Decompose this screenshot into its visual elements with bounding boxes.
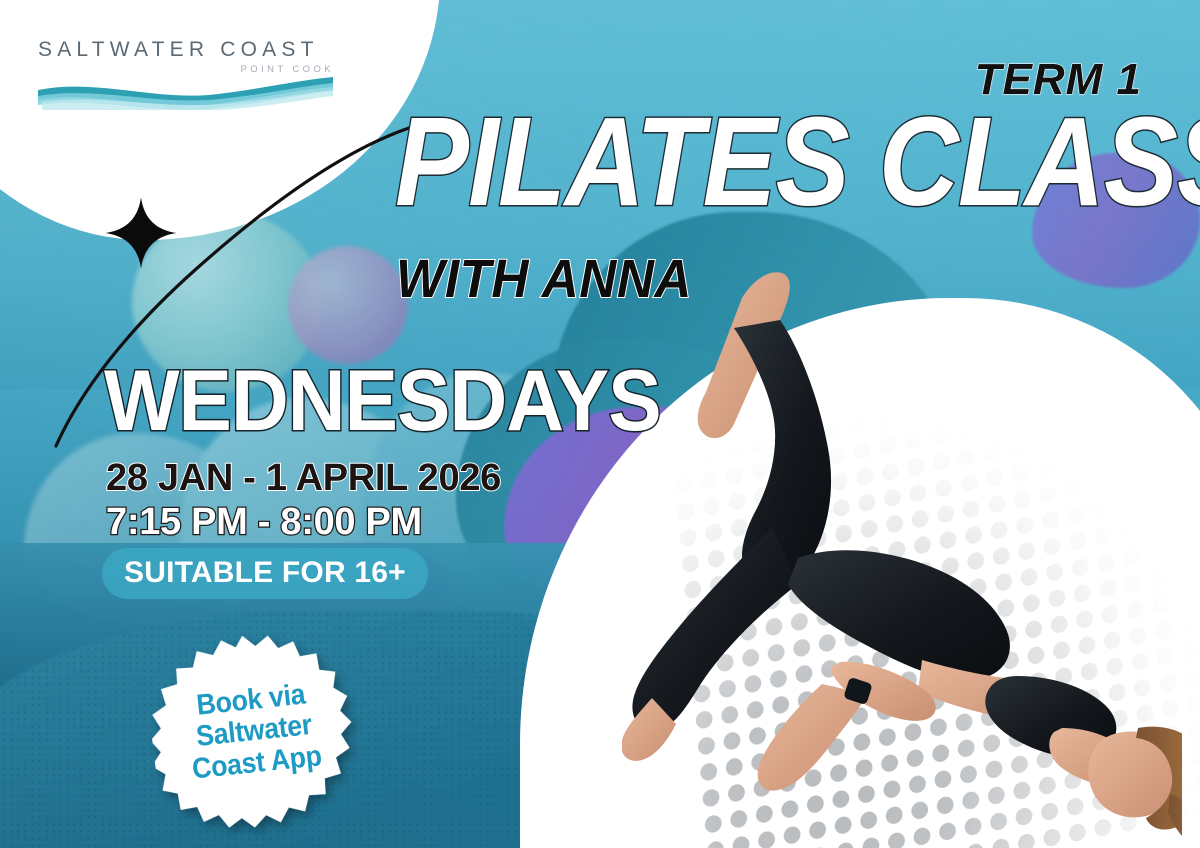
logo-wordmark: SALTWATER COAST	[38, 38, 338, 62]
saltwater-coast-logo: SALTWATER COAST POINT COOK	[38, 38, 338, 110]
wave-icon	[38, 76, 333, 110]
starburst-shape-icon	[140, 618, 367, 845]
booking-badge[interactable]: Book via Saltwater Coast App	[152, 630, 356, 834]
class-day: WEDNESDAYS	[104, 358, 661, 444]
logo-subtitle: POINT COOK	[38, 64, 334, 75]
page-title: PILATES CLASS	[395, 108, 1200, 216]
sparkle-icon	[104, 196, 178, 270]
age-requirement-badge: SUITABLE FOR 16+	[102, 548, 428, 599]
instructor-subtitle: WITH ANNA	[396, 248, 692, 310]
class-time-range: 7:15 PM - 8:00 PM	[106, 503, 422, 541]
class-date-range: 28 JAN - 1 APRIL 2026	[106, 459, 501, 497]
pilates-model-photo	[622, 228, 1182, 848]
pilates-class-poster: SALTWATER COAST POINT COOK TERM 1 PILATE…	[0, 0, 1200, 848]
